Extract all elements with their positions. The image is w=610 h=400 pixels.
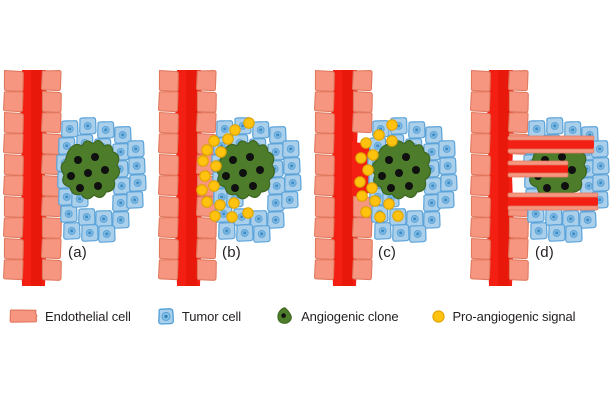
blood-vessel-a <box>4 70 62 286</box>
neovessel-branch-middle <box>508 161 568 177</box>
legend-label-tumor-cell: Tumor cell <box>182 309 241 324</box>
neovessel-branch-bottom <box>508 193 598 210</box>
legend-label-pro-angiogenic-signal: Pro-angiogenic signal <box>452 309 575 324</box>
vessel-lumen-shade <box>342 70 353 286</box>
panel-label-b: (b) <box>222 244 241 261</box>
angiogenesis-figure <box>0 0 610 400</box>
panel-label-d: (d) <box>535 244 554 261</box>
legend-item-pro-angiogenic-signal: Pro-angiogenic signal <box>432 309 575 324</box>
endothelial-wall-left <box>159 71 179 280</box>
panel-label-a: (a) <box>68 244 87 261</box>
figure-legend: Endothelial cell Tumor cell Angiogenic c… <box>0 303 610 329</box>
neovessel-branch-top <box>508 136 594 153</box>
legend-item-angiogenic-clone: Angiogenic clone <box>277 307 398 325</box>
vessel-lumen-shade <box>186 70 197 286</box>
endothelial-wall-left <box>471 71 491 280</box>
legend-item-endothelial-cell: Endothelial cell <box>9 309 131 324</box>
legend-label-endothelial-cell: Endothelial cell <box>45 309 131 324</box>
legend-item-tumor-cell: Tumor cell <box>157 308 241 325</box>
vessel-lumen-shade <box>31 70 42 286</box>
endothelial-cell-icon <box>9 309 38 324</box>
endothelial-wall-left <box>4 71 24 280</box>
tumor-cell-icon <box>157 308 175 325</box>
angiogenic-clone-icon <box>277 307 294 325</box>
endothelial-wall-left <box>315 71 335 280</box>
legend-label-angiogenic-clone: Angiogenic clone <box>301 309 398 324</box>
vessel-lumen-shade <box>498 70 509 286</box>
pro-angiogenic-signal-icon <box>432 310 445 323</box>
panel-label-c: (c) <box>378 244 396 261</box>
